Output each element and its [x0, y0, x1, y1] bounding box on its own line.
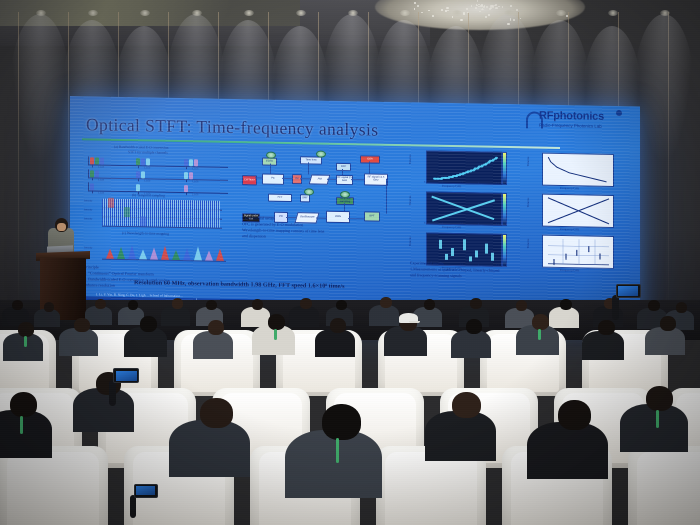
- principle-item-3: enhance resolution: [84, 282, 115, 288]
- audience-torso: [549, 307, 579, 328]
- xtick-1-2: 1.5: [460, 222, 463, 225]
- setup-node-osa: OSA: [360, 155, 380, 163]
- mapping-peak: [139, 249, 147, 259]
- pulse-block: [184, 172, 188, 179]
- sparkle: [510, 5, 512, 6]
- conference-photo: Optical STFT: Time-frequency analysis RF…: [0, 0, 700, 525]
- trace-step: [463, 239, 466, 250]
- sampling-row-label: Intensity: [84, 217, 92, 220]
- mapping-peak: [216, 249, 224, 261]
- rf-source-icon-0: [266, 152, 276, 159]
- audience-torso: [0, 410, 52, 458]
- smartphone[interactable]: [113, 368, 139, 383]
- lanyard: [20, 416, 23, 434]
- audience-head: [208, 320, 224, 335]
- pulse-block: [141, 158, 145, 165]
- axis-tick-label: f_LO3: [192, 167, 198, 170]
- results-plot-panel: Frequency/GHzTime/ns0.511.522.5Frequency…: [406, 150, 632, 278]
- cap-brim: [409, 321, 419, 324]
- resolution-summary: Resolution 60 MHz, observation bandwidth…: [134, 279, 345, 290]
- downlight-icon: [296, 10, 306, 16]
- diagram-c-caption: (c) Wavelength-to-time mapping: [122, 231, 169, 236]
- downlight-icon: [36, 10, 46, 16]
- phone-screen: [136, 486, 155, 495]
- audience-head: [532, 314, 549, 330]
- pulse-block: [184, 159, 188, 166]
- axis-tick-label: f_LO2: [144, 166, 150, 169]
- sparkle: [428, 10, 429, 11]
- results-line-2: and frequency-scanning signals: [410, 272, 462, 278]
- sparkle: [446, 7, 449, 9]
- sparkle: [566, 15, 568, 16]
- xtick-0-4: 2.5: [496, 181, 499, 184]
- setup-wire-v-1: [270, 164, 271, 174]
- smartphone[interactable]: [616, 284, 641, 298]
- lanyard: [538, 329, 541, 340]
- pulse-block: [184, 185, 188, 192]
- pulse-block: [141, 171, 145, 178]
- sampling-row-label: Intensity: [84, 199, 92, 202]
- audience-head: [200, 398, 233, 428]
- trace-point: [495, 157, 498, 159]
- sparkle: [460, 19, 463, 21]
- mapping-peak: [183, 248, 191, 260]
- axis-tick: [92, 190, 93, 193]
- plot-grid: Frequency/GHzTime/ns0.511.522.5Frequency…: [406, 150, 632, 154]
- sparkle: [414, 2, 416, 3]
- audience-torso: [124, 327, 167, 357]
- audience-head: [44, 302, 54, 312]
- audience-head: [648, 300, 660, 311]
- axis-tick: [186, 179, 187, 182]
- yaxis-label-r-2: Time/ns: [526, 239, 530, 249]
- trace-step: [439, 240, 442, 249]
- lineplot-2: [542, 235, 614, 269]
- sparkle: [483, 6, 485, 8]
- audience-head: [558, 400, 591, 430]
- lanyard: [336, 438, 339, 463]
- audience-torso: [161, 306, 190, 326]
- axis-tick-label: f_LO1: [98, 179, 104, 182]
- sparkle: [495, 7, 498, 9]
- setup-wire-8: [348, 218, 364, 219]
- rfphotonics-logo: RFphotonics Radio-Frequency Photonics La…: [526, 109, 634, 133]
- audience-head: [322, 404, 361, 440]
- downlight-icon: [192, 10, 202, 16]
- presentation-screen[interactable]: Optical STFT: Time-frequency analysis RF…: [70, 96, 640, 322]
- setup-wire-v-0: [386, 179, 387, 214]
- mapping-peak: [106, 249, 114, 259]
- raised-arm: [612, 295, 619, 320]
- audience-head: [466, 319, 482, 334]
- rf-source-icon-1: [316, 151, 326, 158]
- slide-content: Optical STFT: Time-frequency analysis RF…: [70, 96, 640, 322]
- axis-tick: [138, 178, 139, 181]
- mapping-peak: [161, 246, 169, 260]
- speaker-face: [57, 223, 66, 231]
- yaxis-label-0: Time/ns: [408, 154, 412, 164]
- audience-head: [336, 300, 347, 310]
- setup-node-rf-signal-12-5-ghz: RF signal 12.5 GHz: [364, 173, 388, 185]
- audience-head: [424, 299, 435, 310]
- yaxis-label-2: Time/ns: [408, 236, 412, 246]
- downlight-icon: [348, 10, 358, 16]
- audience-head: [128, 300, 138, 310]
- audience-torso: [59, 328, 98, 355]
- axis-tick: [186, 192, 187, 195]
- setup-node-temporal-sampling: Temporal sampling: [336, 197, 354, 205]
- downlight-icon: [452, 10, 462, 16]
- lineplot-0: [542, 153, 614, 187]
- logo-subtitle: Radio-Frequency Photonics Lab: [539, 123, 602, 129]
- sparkle: [492, 5, 494, 8]
- audience-head: [646, 386, 673, 411]
- audience-torso: [315, 329, 355, 357]
- xtick-2-3: 2: [478, 263, 479, 266]
- setup-node-im: IM: [292, 174, 302, 184]
- audience-head: [10, 392, 37, 417]
- logo-wordmark: RFphotonics: [539, 110, 604, 123]
- smartphone[interactable]: [134, 484, 158, 498]
- setup-heading: Experimental setup: [242, 215, 274, 221]
- logo-antenna-icon: [616, 110, 622, 116]
- yaxis-label-r-0: Time/ns: [526, 157, 530, 167]
- xaxis-label-r-2: Frequency/GHz: [560, 268, 579, 272]
- sparkle: [414, 8, 416, 9]
- pulse-block: [90, 157, 94, 164]
- xaxis-label-r-1: Frequency/GHz: [560, 227, 579, 231]
- colorbar-0: [502, 152, 507, 185]
- audience-head: [252, 299, 263, 310]
- mapping-peak: [117, 247, 125, 259]
- audience-head: [598, 320, 615, 335]
- audience-torso: [527, 422, 608, 479]
- axis-tick-label: f_LO3: [192, 193, 198, 196]
- xtick-2-4: 2.5: [496, 263, 499, 266]
- lineplot-1: [542, 194, 614, 228]
- pulse-block: [136, 158, 140, 165]
- xaxis-label-r-0: Frequency/GHz: [560, 186, 579, 190]
- colorbar-1: [502, 193, 507, 226]
- setup-node-pm: PM: [309, 174, 331, 184]
- audience-torso: [241, 307, 270, 327]
- diagram-b-caption: (b) Temporal sampling: [132, 193, 165, 198]
- diagram-a-caption: (a) Bandwidth-scaled E-O conversion: [114, 145, 168, 150]
- pulse-block: [194, 159, 198, 166]
- xtick-0-0: 0.5: [424, 180, 427, 183]
- wall-wash: [10, 14, 70, 164]
- audience-torso: [620, 404, 688, 452]
- xtick-0-2: 1.5: [460, 181, 463, 184]
- axis-tick: [186, 166, 187, 169]
- downlight-icon: [608, 10, 618, 16]
- setup-blocks: CW laserPCIMPMRF signal 25 GHzRF signal …: [240, 149, 400, 152]
- audience-torso: [645, 327, 685, 355]
- setup-wire-v-2: [308, 162, 309, 174]
- pulse-block: [100, 158, 104, 165]
- phone-screen: [116, 371, 137, 381]
- principle-heading: Principle: [84, 264, 99, 270]
- xaxis-label-1: Frequency/GHz: [442, 225, 461, 229]
- downlight-icon: [556, 10, 566, 16]
- audience-torso: [193, 331, 233, 359]
- setup-node-smf: SMF: [300, 194, 310, 202]
- audience-head: [676, 302, 687, 313]
- diagram-a-yaxis-1: [88, 169, 89, 178]
- downlight-icon: [400, 10, 410, 16]
- diagram-a-axis-0: [88, 164, 228, 168]
- raised-arm: [109, 380, 116, 406]
- setup-wire-7: [316, 218, 326, 219]
- audience-head: [268, 314, 285, 330]
- xtick-1-3: 2: [478, 222, 479, 225]
- setup-node-time-lens: Time lens: [300, 156, 322, 164]
- axis-tick: [92, 177, 93, 180]
- xaxis-label-0: Frequency/GHz: [442, 184, 461, 188]
- axis-tick: [92, 164, 93, 167]
- audience-torso: [169, 420, 250, 477]
- pulse-block: [95, 170, 99, 177]
- setup-node-fft: FFT: [268, 194, 292, 202]
- pulse-block: [136, 184, 140, 191]
- audience-torso: [285, 430, 383, 498]
- sparkle: [463, 12, 466, 14]
- audience-torso: [34, 309, 60, 327]
- downlight-icon: [88, 10, 98, 16]
- audience-head: [560, 299, 572, 310]
- sparkle: [488, 14, 489, 16]
- audience-torso: [425, 411, 497, 461]
- setup-wire-6: [286, 217, 296, 218]
- audience-torso: [3, 333, 43, 361]
- principle-diagram-panel: (a) Bandwidth-scaled E-O conversion STFT…: [84, 146, 232, 269]
- setup-node-pc: PC: [262, 174, 284, 185]
- pulse-block: [136, 171, 140, 178]
- audience-head: [18, 322, 34, 337]
- setup-node-dcf: DCF: [336, 163, 351, 171]
- sparkle: [445, 10, 446, 11]
- pulse-block: [189, 159, 193, 166]
- xtick-2-2: 1.5: [460, 263, 463, 266]
- sparkle: [447, 10, 449, 11]
- downlight-icon: [244, 10, 254, 16]
- axis-tick-label: f_LO1: [98, 192, 104, 195]
- pulse-block: [146, 158, 150, 165]
- axis-tick-label: f_LO1: [98, 166, 104, 169]
- diagram-a-yaxis-0: [88, 156, 89, 165]
- audience-head: [470, 298, 482, 309]
- audience-head: [95, 299, 106, 309]
- trace-step: [475, 250, 478, 257]
- mapping-label: Intensity: [84, 246, 92, 249]
- audience-head: [12, 300, 23, 310]
- diagram-a-caption2: STFT for multiple channels: [128, 150, 168, 155]
- xtick-1-1: 1: [442, 221, 443, 224]
- audience-head: [300, 298, 312, 309]
- lanyard: [274, 329, 277, 340]
- trace-step: [485, 244, 488, 254]
- experimental-setup-diagram: CW laserPCIMPMRF signal 25 GHzRF signal …: [240, 149, 400, 264]
- trace-step: [469, 256, 472, 261]
- colorbar-2: [502, 234, 507, 267]
- pulse-block: [90, 170, 94, 177]
- axis-tick-label: f_LO2: [144, 179, 150, 182]
- audience-head: [140, 316, 157, 332]
- slide-title: Optical STFT: Time-frequency analysis: [86, 114, 378, 140]
- audience-head: [380, 297, 392, 308]
- trace-step: [451, 248, 454, 256]
- rf-source-icon-2: [304, 188, 314, 195]
- audience-torso: [451, 330, 491, 358]
- audience-head: [206, 300, 217, 310]
- trace-step: [445, 254, 448, 260]
- trace-down: [432, 199, 495, 221]
- sparkle: [495, 4, 497, 6]
- audience-chair: [628, 446, 700, 525]
- mapping-peak: [172, 250, 180, 260]
- lanyard: [24, 336, 27, 346]
- xtick-0-1: 1: [442, 180, 443, 183]
- wall-wash: [634, 14, 694, 164]
- spectrogram-1: [426, 192, 502, 226]
- yaxis-label-1: Time/ns: [408, 195, 412, 205]
- sparkle: [421, 12, 423, 13]
- setup-wire-v-4: [369, 161, 370, 173]
- xtick-0-3: 2: [478, 181, 479, 184]
- axis-tick: [138, 165, 139, 168]
- downlight-icon: [140, 10, 150, 16]
- pulse-block: [95, 157, 99, 164]
- setup-line-3: and dispersion: [242, 233, 266, 239]
- trace-step: [491, 253, 494, 261]
- audience-torso: [289, 306, 319, 327]
- setup-node-rf-signal-25-ghz: RF signal 25 GHz: [336, 175, 353, 185]
- mapping-peak: [150, 247, 158, 259]
- xtick-1-0: 0.5: [424, 221, 427, 224]
- raised-arm: [130, 495, 136, 518]
- diagram-a-axis-1: [88, 177, 228, 181]
- phone-screen: [618, 286, 638, 296]
- audience-head: [330, 318, 346, 333]
- setup-node-bpf: BPF: [364, 211, 380, 221]
- audience-torso: [384, 326, 427, 356]
- setup-wire-v-5: [344, 203, 345, 211]
- spectrogram-0: [426, 151, 502, 185]
- setup-wire-0: [255, 177, 262, 178]
- mapping-peak: [128, 245, 136, 259]
- mapping-peak: [194, 246, 202, 260]
- diagram-a-yaxis-2: [88, 182, 89, 191]
- yaxis-label-r-1: Time/ns: [526, 198, 530, 208]
- audience-head: [74, 318, 90, 332]
- audience-head: [452, 392, 481, 418]
- downlight-icon: [504, 10, 514, 16]
- sparkle: [486, 6, 488, 8]
- lanyard: [656, 410, 659, 428]
- axis-tick-label: f_LO3: [192, 180, 198, 183]
- audience-head: [172, 298, 183, 309]
- audience-torso: [369, 305, 399, 326]
- audience-head: [516, 300, 527, 311]
- rf-source-icon-3: [340, 191, 350, 198]
- pulse-block: [189, 172, 193, 179]
- sampling-row-label: Intensity: [84, 208, 92, 211]
- audience-torso: [582, 331, 624, 360]
- audience-torso: [73, 388, 135, 431]
- setup-wire-v-3: [342, 169, 343, 175]
- sparkle: [489, 8, 491, 10]
- xtick-1-4: 2.5: [496, 222, 499, 225]
- setup-node-awg: AWG: [326, 211, 350, 223]
- mapping-peak: [205, 250, 213, 260]
- setup-wire-3: [327, 179, 336, 180]
- pulse-block: [90, 183, 94, 190]
- audience-head: [660, 316, 676, 331]
- downlight-icon: [660, 10, 670, 16]
